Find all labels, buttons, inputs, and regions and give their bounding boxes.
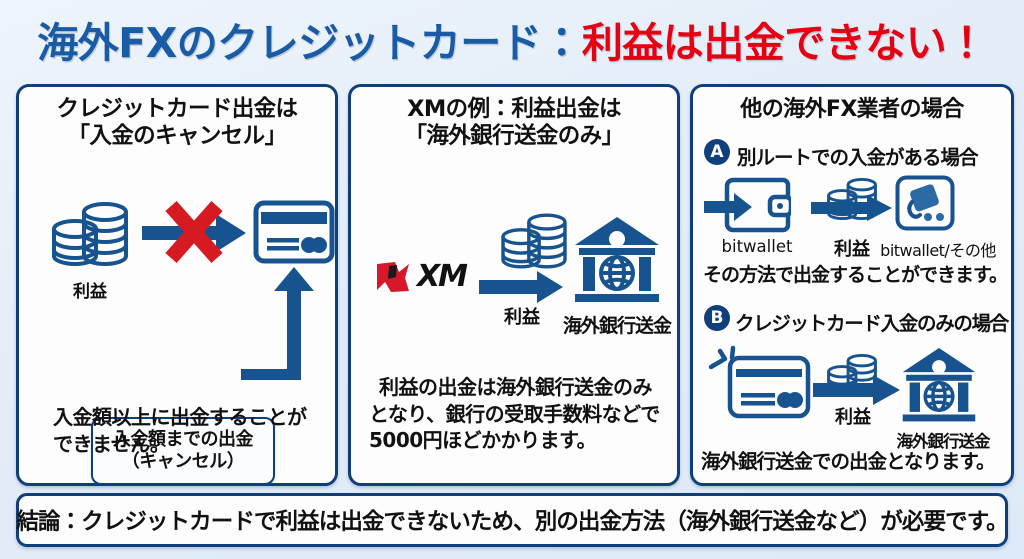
panel-3-heading: 他の海外FX業者の場合 [693, 87, 1011, 124]
bank-globe-icon [573, 215, 661, 307]
xm-logo-text: XM [417, 259, 466, 294]
xm-logo-icon: XM [375, 259, 466, 294]
bank-globe-icon [901, 346, 977, 426]
section-b-arrow-label: 利益 [817, 403, 889, 429]
panel-xm-example: XMの例：利益出金は 「海外銀行送金のみ」 XM [348, 84, 680, 486]
panel-2-target-label: 海外銀行送金 [547, 311, 680, 338]
coins-icon [824, 173, 880, 225]
badge-a: A [704, 139, 730, 165]
panel-1-heading: クレジットカード出金は 「入金のキャンセル」 [19, 87, 335, 151]
badge-b: B [704, 305, 730, 331]
page-title: 海外FXのクレジットカード：利益は出金できない！ [0, 8, 1024, 70]
arrow-right-icon [813, 375, 901, 405]
section-b-label: クレジットカード入金のみの場合 [735, 307, 1008, 336]
section-a-label: 別ルートでの入金がある場合 [737, 141, 978, 170]
elbow-arrow-up-icon [241, 265, 319, 380]
arrow-right-icon [479, 270, 565, 304]
panel-other-fx-brokers: 他の海外FX業者の場合 A 別ルートでの入金がある場合 bitwallet [690, 84, 1014, 486]
panel-1-source-label: 利益 [47, 277, 133, 302]
panel-1-body-text: 入金額以上に出金することが できません。 [53, 404, 307, 457]
conclusion-text: 結論：クレジットカードで利益は出金できないため、別の出金方法（海外銀行送金など）… [16, 504, 1007, 536]
red-x-icon [163, 198, 225, 266]
page-title-blue: 海外FXのクレジットカード： [37, 9, 582, 69]
section-a-wallet-label: bitwallet [703, 237, 811, 256]
coins-icon [47, 195, 133, 273]
section-a-body-text: その方法で出金することができます。 [703, 263, 1007, 288]
wallet-icon [723, 176, 791, 234]
credit-card-shine-icon [727, 355, 811, 419]
infographic-root: 海外FXのクレジットカード：利益は出金できない！ クレジットカード出金は 「入金… [0, 0, 1024, 559]
panel-2-heading: XMの例：利益出金は 「海外銀行送金のみ」 [351, 87, 677, 151]
coins-icon [497, 207, 571, 275]
section-b-body-text: 海外銀行送金での出金となります。 [701, 449, 994, 475]
credit-card-icon [253, 200, 335, 264]
xm-mark-icon [375, 260, 417, 294]
panel-2-body-text: 利益の出金は海外銀行送金のみ となり、銀行の受取手数料などで 5000円ほどかか… [369, 374, 660, 454]
section-a-out-label: bitwallet/その他 [875, 237, 1001, 261]
page-title-red: 利益は出金できない！ [582, 9, 987, 69]
panel-credit-card-withdrawal: クレジットカード出金は 「入金のキャンセル」 利益 [16, 84, 338, 486]
conclusion-bar: 結論：クレジットカードで利益は出金できないため、別の出金方法（海外銀行送金など）… [16, 493, 1008, 547]
payout-icon [895, 175, 955, 231]
